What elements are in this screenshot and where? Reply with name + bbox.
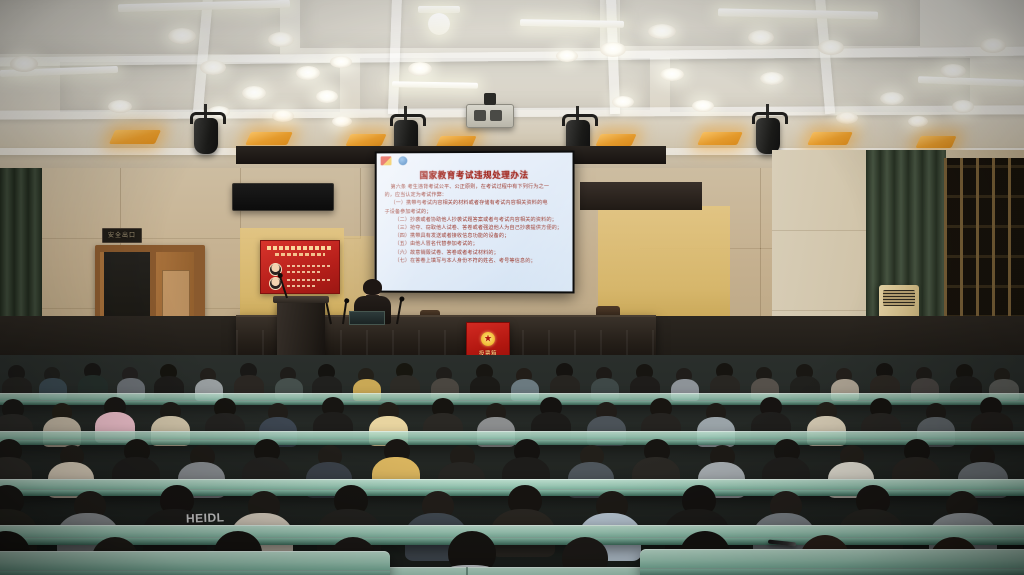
slide-body: 第六条 考生违背考试公平、公正原则，在考试过程中有下列行为之一 的，应当认定为考… [385, 183, 567, 266]
audience-area: HEIDL ADIDAS [0, 355, 1024, 575]
slide-line: 子设备参加考试的； [385, 208, 567, 216]
wall-beam [580, 182, 702, 210]
lectern [277, 300, 325, 362]
desk-surface-foreground [0, 551, 390, 575]
slide-line: （五）由他人冒名代替参加考试的； [385, 240, 567, 248]
slide-line: （七）在答卷上填写与本人身份不符的姓名、考号等信息的； [385, 257, 567, 266]
blue-circle-logo-icon [398, 156, 407, 165]
desk-surface-foreground [640, 549, 1024, 575]
red-propaganda-poster [260, 240, 340, 294]
lectern-top [273, 296, 329, 303]
desk-row [0, 525, 1024, 545]
projector-icon [466, 104, 514, 128]
slide-title: 国家教育考试违规处理办法 [377, 169, 573, 182]
desk-row [0, 431, 1024, 445]
jacket-text-left: HEIDL [186, 510, 225, 525]
projection-screen: 国家教育考试违规处理办法 第六条 考生违背考试公平、公正原则，在考试过程中有下列… [375, 151, 575, 294]
lecture-hall-photo: 安全出口 国家教育考试违规处理办法 第六条 考生违背考试公平、公正原则，在考试过… [0, 0, 1024, 575]
national-emblem-logo-icon [381, 156, 392, 165]
desk-seam [466, 567, 468, 575]
strip-light [418, 6, 460, 13]
exit-sign: 安全出口 [102, 228, 142, 243]
slide-content: 国家教育考试违规处理办法 第六条 考生违背考试公平、公正原则，在考试过程中有下列… [377, 153, 573, 292]
slide-line: （三）抢夺、窃取他人试卷、答卷或者强迫他人为自己抄袭提供方便的； [385, 224, 567, 232]
strip-light [428, 13, 450, 35]
laptop [349, 311, 385, 325]
wall-led-display [232, 183, 334, 211]
slide-line: （二）抄袭或者协助他人抄袭试题答案或者与考试内容相关的资料的； [385, 216, 567, 224]
slide-line: （一）携带与考试内容相关的材料或者存储有考试内容相关资料的电 [385, 199, 567, 207]
exit-sign-label: 安全出口 [108, 233, 136, 239]
slide-line: 的，应当认定为考试作弊： [385, 191, 567, 200]
national-emblem-icon [481, 332, 495, 346]
slide-line: （四）携带具有发送或者接收信息功能的设备的； [385, 232, 567, 240]
